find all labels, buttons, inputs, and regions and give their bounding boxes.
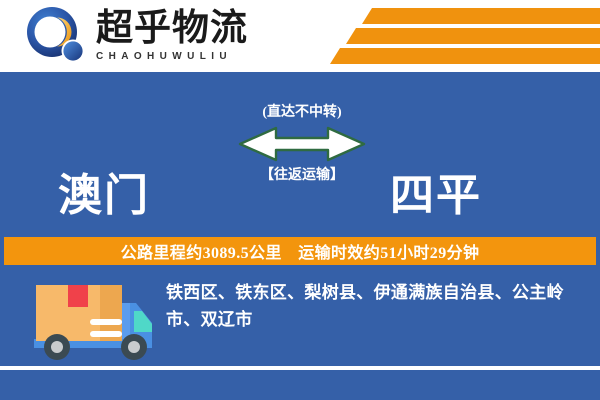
road-line-divider: [0, 366, 600, 370]
coverage-section: 铁西区、铁东区、梨树县、伊通满族自治县、公主岭市、双辽市: [0, 265, 600, 400]
brand-wordmark: 超乎物流 CHAOHUWULIU: [96, 6, 248, 63]
route-info-bar: 公路里程约3089.5公里 运输时效约51小时29分钟: [4, 237, 596, 265]
roundtrip-caption: 【往返运输】: [238, 167, 366, 185]
brand-name-cn: 超乎物流: [96, 8, 248, 50]
coverage-area-list: 铁西区、铁东区、梨树县、伊通满族自治县、公主岭市、双辽市: [166, 279, 586, 333]
route-section: 澳门 (直达不中转) 【往返运输】 四平: [0, 72, 600, 235]
direct-shipping-caption: (直达不中转): [238, 104, 366, 122]
brand-logo[interactable]: 超乎物流 CHAOHUWULIU: [26, 6, 248, 64]
route-arrow-block: (直达不中转) 【往返运输】: [238, 104, 366, 185]
delivery-truck-icon: [24, 277, 160, 367]
brand-name-pinyin: CHAOHUWULIU: [96, 51, 248, 63]
orange-stripes-decoration: [310, 6, 600, 66]
bidirectional-arrow-icon: [238, 124, 366, 164]
banner-header: 超乎物流 CHAOHUWULIU: [0, 0, 600, 72]
distance-and-duration-text: 公路里程约3089.5公里 运输时效约51小时29分钟: [121, 239, 480, 263]
destination-city: 四平: [390, 171, 482, 221]
origin-city: 澳门: [58, 171, 150, 221]
chaohuwuliu-logo-icon: [26, 6, 88, 64]
logistics-route-banner: 超乎物流 CHAOHUWULIU 澳门 (直达不中转) 【往返运输】 四平 公路…: [0, 0, 600, 400]
